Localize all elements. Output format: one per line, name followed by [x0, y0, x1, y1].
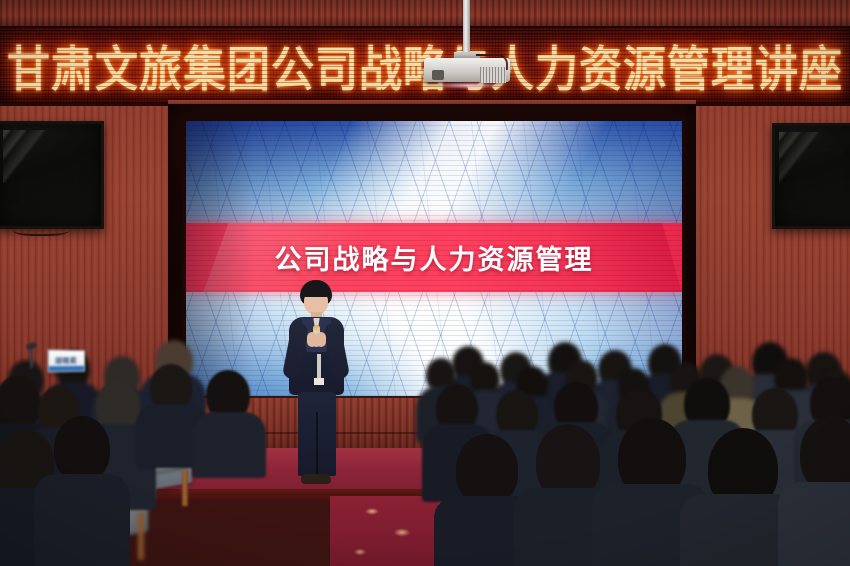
- audience-body: [192, 412, 266, 478]
- projector-pole: [463, 0, 470, 56]
- trouser-seam: [316, 412, 318, 476]
- audience-right-crowd: [420, 358, 850, 566]
- table-microphone-stand: [30, 348, 33, 368]
- screen-glare: [3, 130, 56, 183]
- wall-monitor-left: [0, 121, 104, 229]
- monitor-cable: [13, 223, 69, 236]
- audience-left-crowd: [0, 372, 290, 566]
- slide-title-text: 公司战略与人力资源管理: [275, 238, 594, 277]
- wall-top-molding: [0, 0, 850, 27]
- projector-cable: [476, 54, 508, 70]
- name-placard-text: 胡晓莉: [55, 356, 77, 366]
- projector-lens-icon: [432, 70, 444, 80]
- presenter-fringe: [301, 286, 331, 297]
- audience-body: [34, 474, 130, 566]
- audience-head: [800, 416, 850, 492]
- audience-head: [54, 416, 110, 482]
- conference-hall-photo: 甘肃文旅集团公司战略与人力资源管理讲座 公司战略与人力资源管理: [0, 0, 850, 566]
- presenter: [283, 280, 349, 492]
- presenter-hand-right: [316, 332, 326, 347]
- name-placard: 胡晓莉: [48, 350, 85, 373]
- presenter-shoes: [301, 474, 331, 484]
- screen-glare: [779, 132, 827, 184]
- projector-glow: [430, 82, 504, 89]
- wall-monitor-right: [772, 123, 850, 229]
- presenter-badge: [314, 378, 324, 385]
- presenter-lanyard: [317, 354, 321, 380]
- audience-body: [778, 482, 850, 566]
- ceiling-projector: [424, 52, 510, 86]
